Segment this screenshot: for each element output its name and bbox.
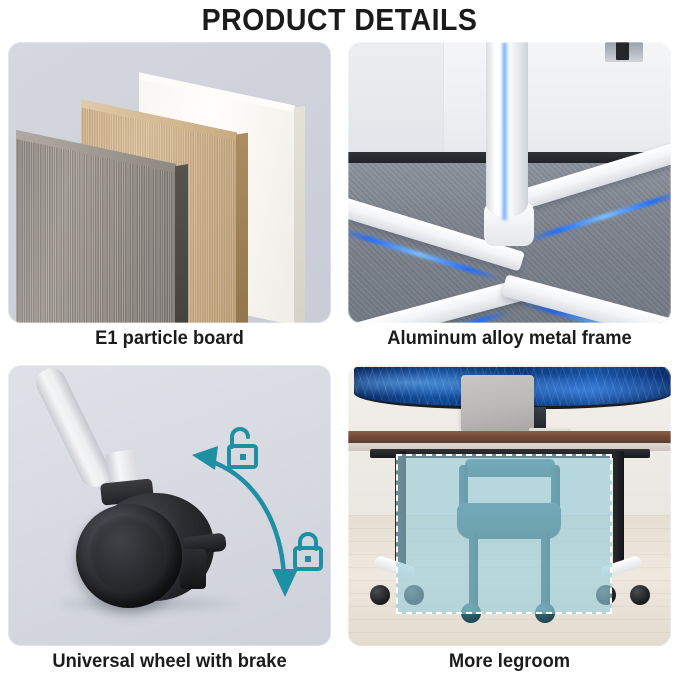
detail-cell-more-legroom: More legroom	[348, 365, 671, 673]
desk-leg-tube	[31, 365, 114, 492]
caption-more-legroom: More legroom	[358, 650, 662, 673]
caption-universal-wheel: Universal wheel with brake	[18, 650, 322, 673]
legroom-highlight-area	[396, 454, 612, 614]
laptop	[461, 375, 534, 431]
caption-e1-particle-board: E1 particle board	[18, 327, 322, 350]
frame-column-glow	[502, 42, 508, 220]
detail-cell-universal-wheel: Universal wheel with brake	[8, 365, 331, 673]
board-oak-side-edge	[236, 133, 248, 323]
universal-wheel-image	[8, 365, 331, 646]
caption-aluminum-frame: Aluminum alloy metal frame	[358, 327, 662, 350]
desk-caster-right-back	[630, 585, 650, 605]
details-grid: E1 particle board	[8, 42, 671, 667]
product-details-page: PRODUCT DETAILS	[0, 0, 679, 673]
board-gray-side-edge	[175, 164, 188, 323]
unlock-icon	[220, 425, 262, 473]
detail-cell-e1-particle-board: E1 particle board	[8, 42, 331, 364]
board-white-side-edge	[294, 106, 305, 323]
board-gray	[16, 130, 176, 323]
wall-outlet-plate	[605, 42, 643, 62]
e1-particle-board-image	[8, 42, 331, 323]
aluminum-frame-image	[348, 42, 671, 323]
desktop-surface	[348, 431, 671, 443]
desk-post-right	[613, 451, 624, 569]
lock-icon	[290, 529, 326, 577]
detail-cell-aluminum-frame: Aluminum alloy metal frame	[348, 42, 671, 364]
more-legroom-image	[348, 365, 671, 646]
page-title: PRODUCT DETAILS	[27, 2, 652, 38]
desk-caster-left-front	[370, 585, 390, 605]
caster-wheel-disc	[76, 504, 182, 608]
wall-seam	[348, 42, 444, 157]
